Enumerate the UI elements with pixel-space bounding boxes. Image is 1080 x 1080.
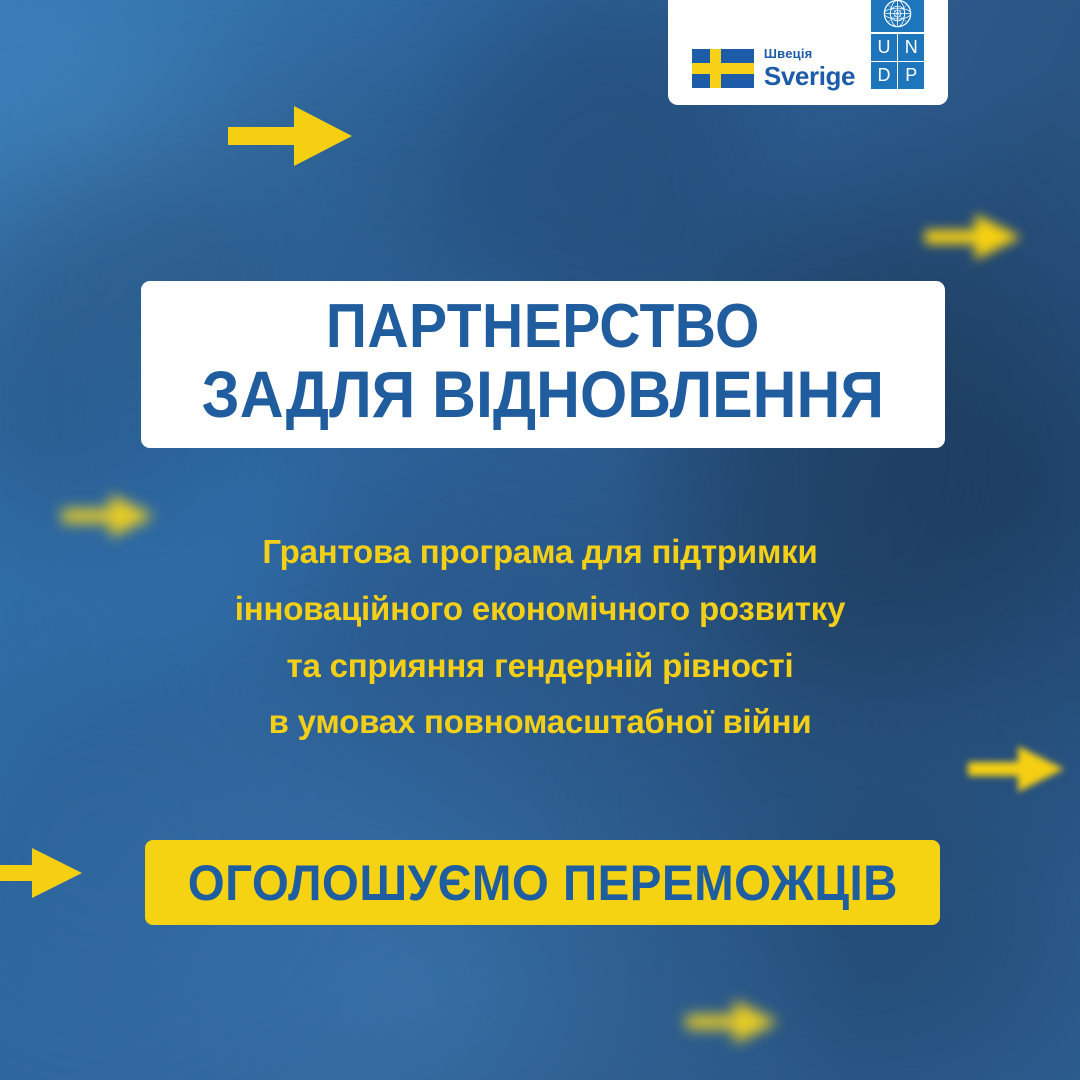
undp-letter-d: D bbox=[871, 62, 897, 89]
subtitle-block: Грантова програма для підтримки інноваці… bbox=[110, 524, 970, 751]
subtitle-line: Грантова програма для підтримки bbox=[110, 524, 970, 581]
announcement-banner-label: ОГОЛОШУЄМО ПЕРЕМОЖЦІВ bbox=[187, 858, 897, 908]
arrow-right-icon bbox=[686, 998, 778, 1046]
undp-logo: U N D P bbox=[871, 0, 924, 89]
subtitle-line: інноваційного економічного розвитку bbox=[110, 581, 970, 638]
sweden-label-uk: Швеція bbox=[764, 47, 855, 60]
sweden-label-sv: Sverige bbox=[764, 63, 855, 89]
subtitle-line: в умовах повномасштабної війни bbox=[110, 694, 970, 751]
arrow-right-icon bbox=[228, 104, 352, 168]
swedish-flag-icon bbox=[692, 49, 754, 88]
arrow-right-icon bbox=[0, 846, 82, 900]
undp-letters: U N D P bbox=[871, 34, 924, 90]
undp-letter-n: N bbox=[898, 34, 924, 61]
title-line-2: ЗАДЛЯ ВІДНОВЛЕННЯ bbox=[202, 362, 884, 427]
poster-canvas: Швеція Sverige U N D bbox=[0, 0, 1080, 1080]
subtitle-line: та сприяння гендерній рівності bbox=[110, 638, 970, 695]
arrow-right-icon bbox=[968, 744, 1064, 794]
undp-letter-p: P bbox=[898, 62, 924, 89]
sweden-logo: Швеція Sverige bbox=[692, 47, 855, 89]
title-card: ПАРТНЕРСТВО ЗАДЛЯ ВІДНОВЛЕННЯ bbox=[141, 281, 945, 448]
un-globe-icon bbox=[871, 0, 924, 32]
title-line-1: ПАРТНЕРСТВО bbox=[326, 297, 760, 358]
donor-logo-card: Швеція Sverige U N D bbox=[668, 0, 948, 105]
undp-letter-u: U bbox=[871, 34, 897, 61]
arrow-right-icon bbox=[925, 212, 1021, 262]
announcement-banner: ОГОЛОШУЄМО ПЕРЕМОЖЦІВ bbox=[145, 840, 940, 925]
